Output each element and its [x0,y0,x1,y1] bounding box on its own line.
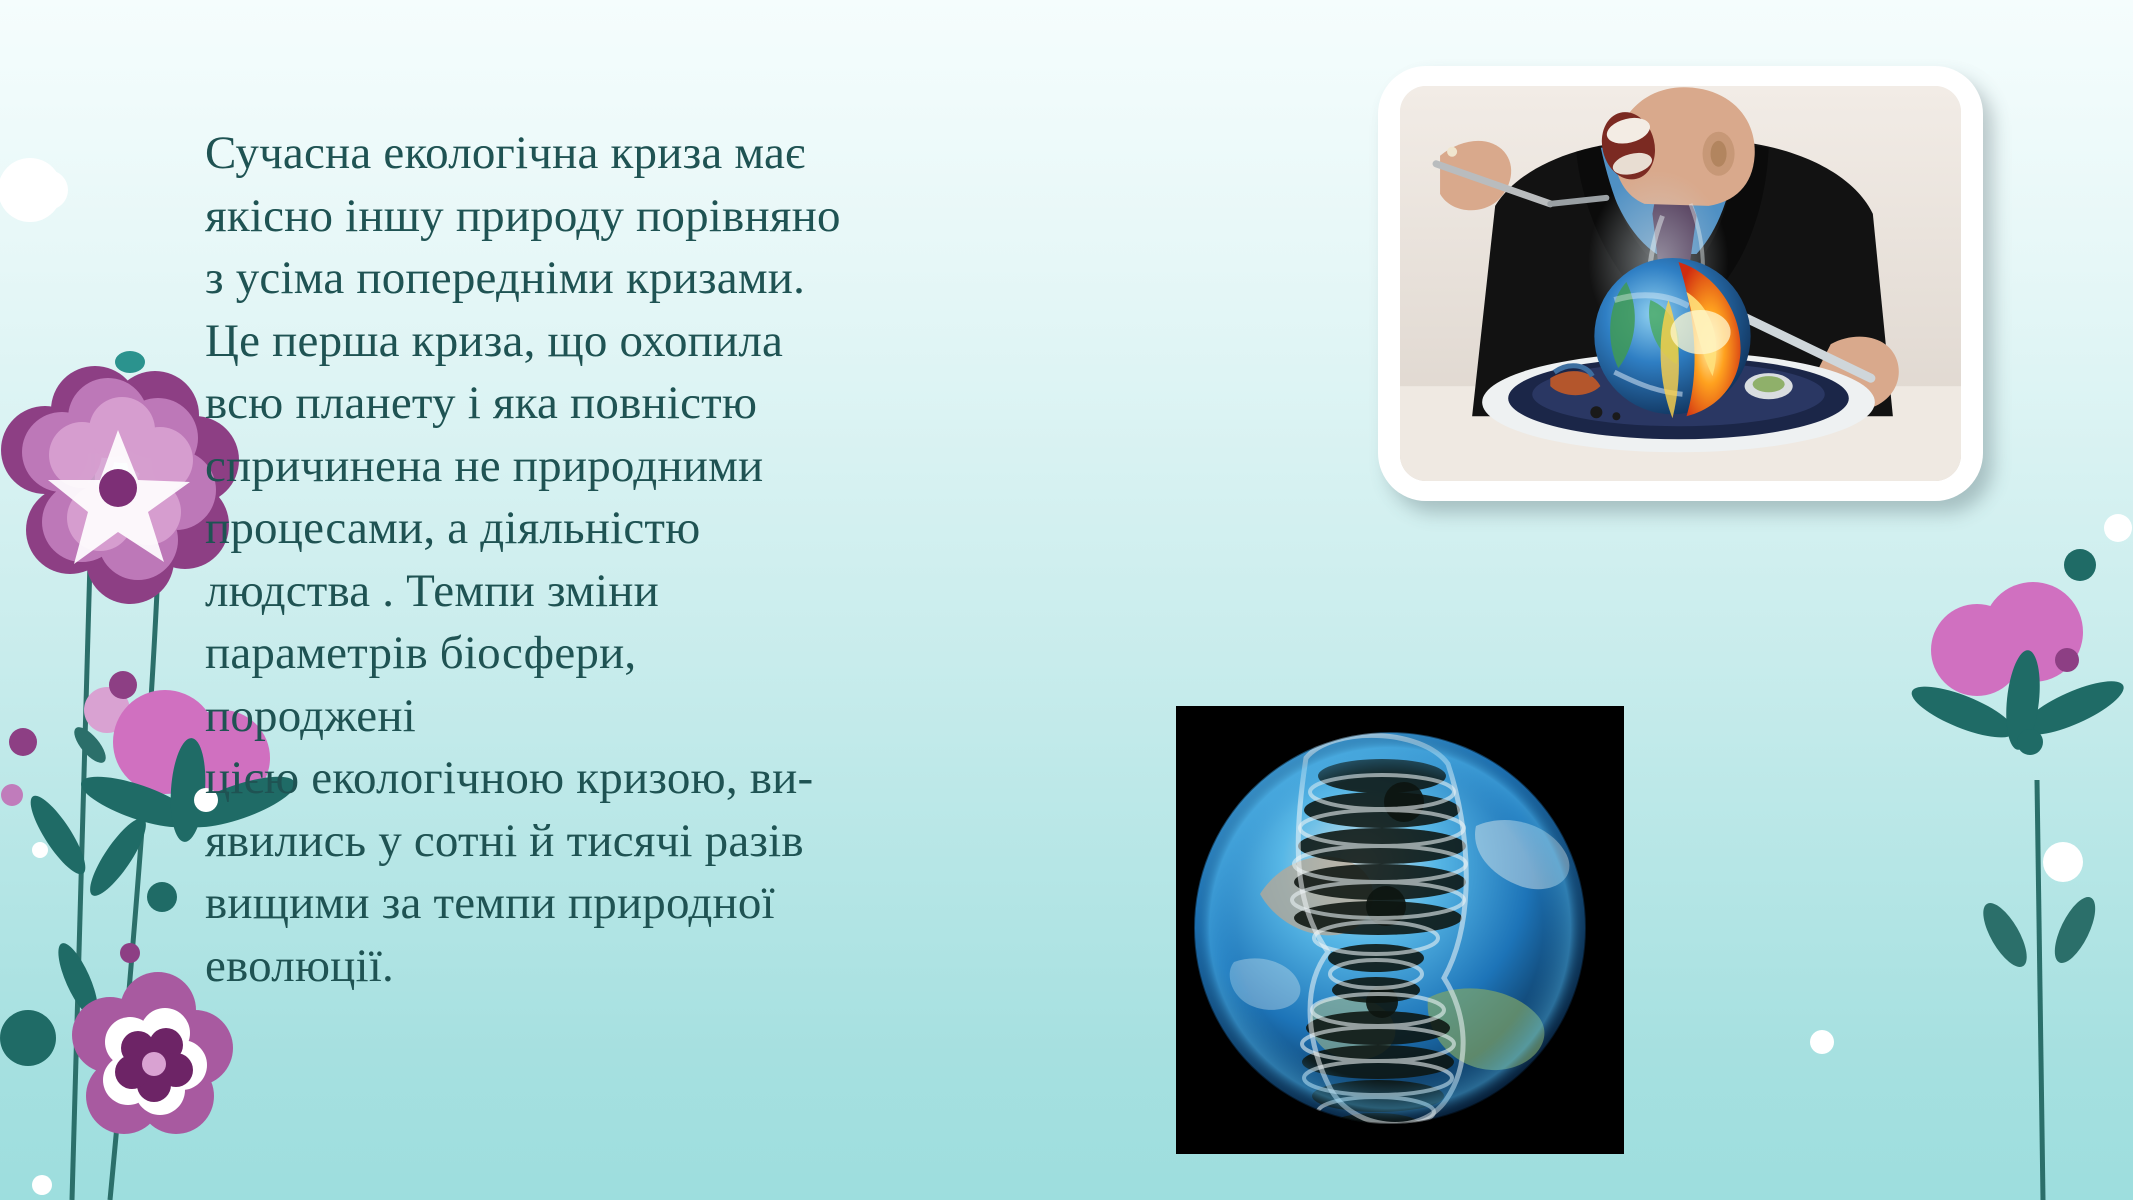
starburst-icon [2104,514,2132,542]
starburst-icon [2043,842,2083,882]
dot-icon [1810,1030,1834,1054]
dot-icon [1,784,23,806]
starburst-icon [109,671,137,699]
slide-body-text: Сучасна екологічна криза має якісно іншу… [205,122,845,997]
large-purple-flower [1,351,239,604]
starburst-icon [0,1010,56,1066]
starburst-icon [2017,729,2043,755]
earth-bootprint-image [1176,706,1624,1154]
starburst-icon [9,728,37,756]
leaf-icon [81,812,154,903]
dot-icon [2055,648,2079,672]
flower-stem [110,570,158,1200]
starburst-icon [2064,549,2096,581]
starburst-icon [147,882,177,912]
leaf-icon [22,789,94,880]
leaf-icon [1975,897,2035,973]
presentation-slide: Сучасна екологічна криза має якісно іншу… [0,0,2133,1200]
starburst-icon [28,170,68,210]
dot-icon [32,842,48,858]
dot-icon [32,1175,52,1195]
leaf-icon [51,939,105,1022]
bud-icon [84,687,130,733]
right-flower-decoration [1905,500,2133,1200]
starburst-icon [0,158,62,222]
dot-icon [120,943,140,963]
pink-heart-flower [1906,582,2130,751]
leaf-icon [69,722,111,767]
leaf-icon [2047,892,2104,969]
man-eating-earth-image [1378,66,1983,501]
flower-stem [2037,780,2043,1200]
flower-stem [72,420,94,1200]
